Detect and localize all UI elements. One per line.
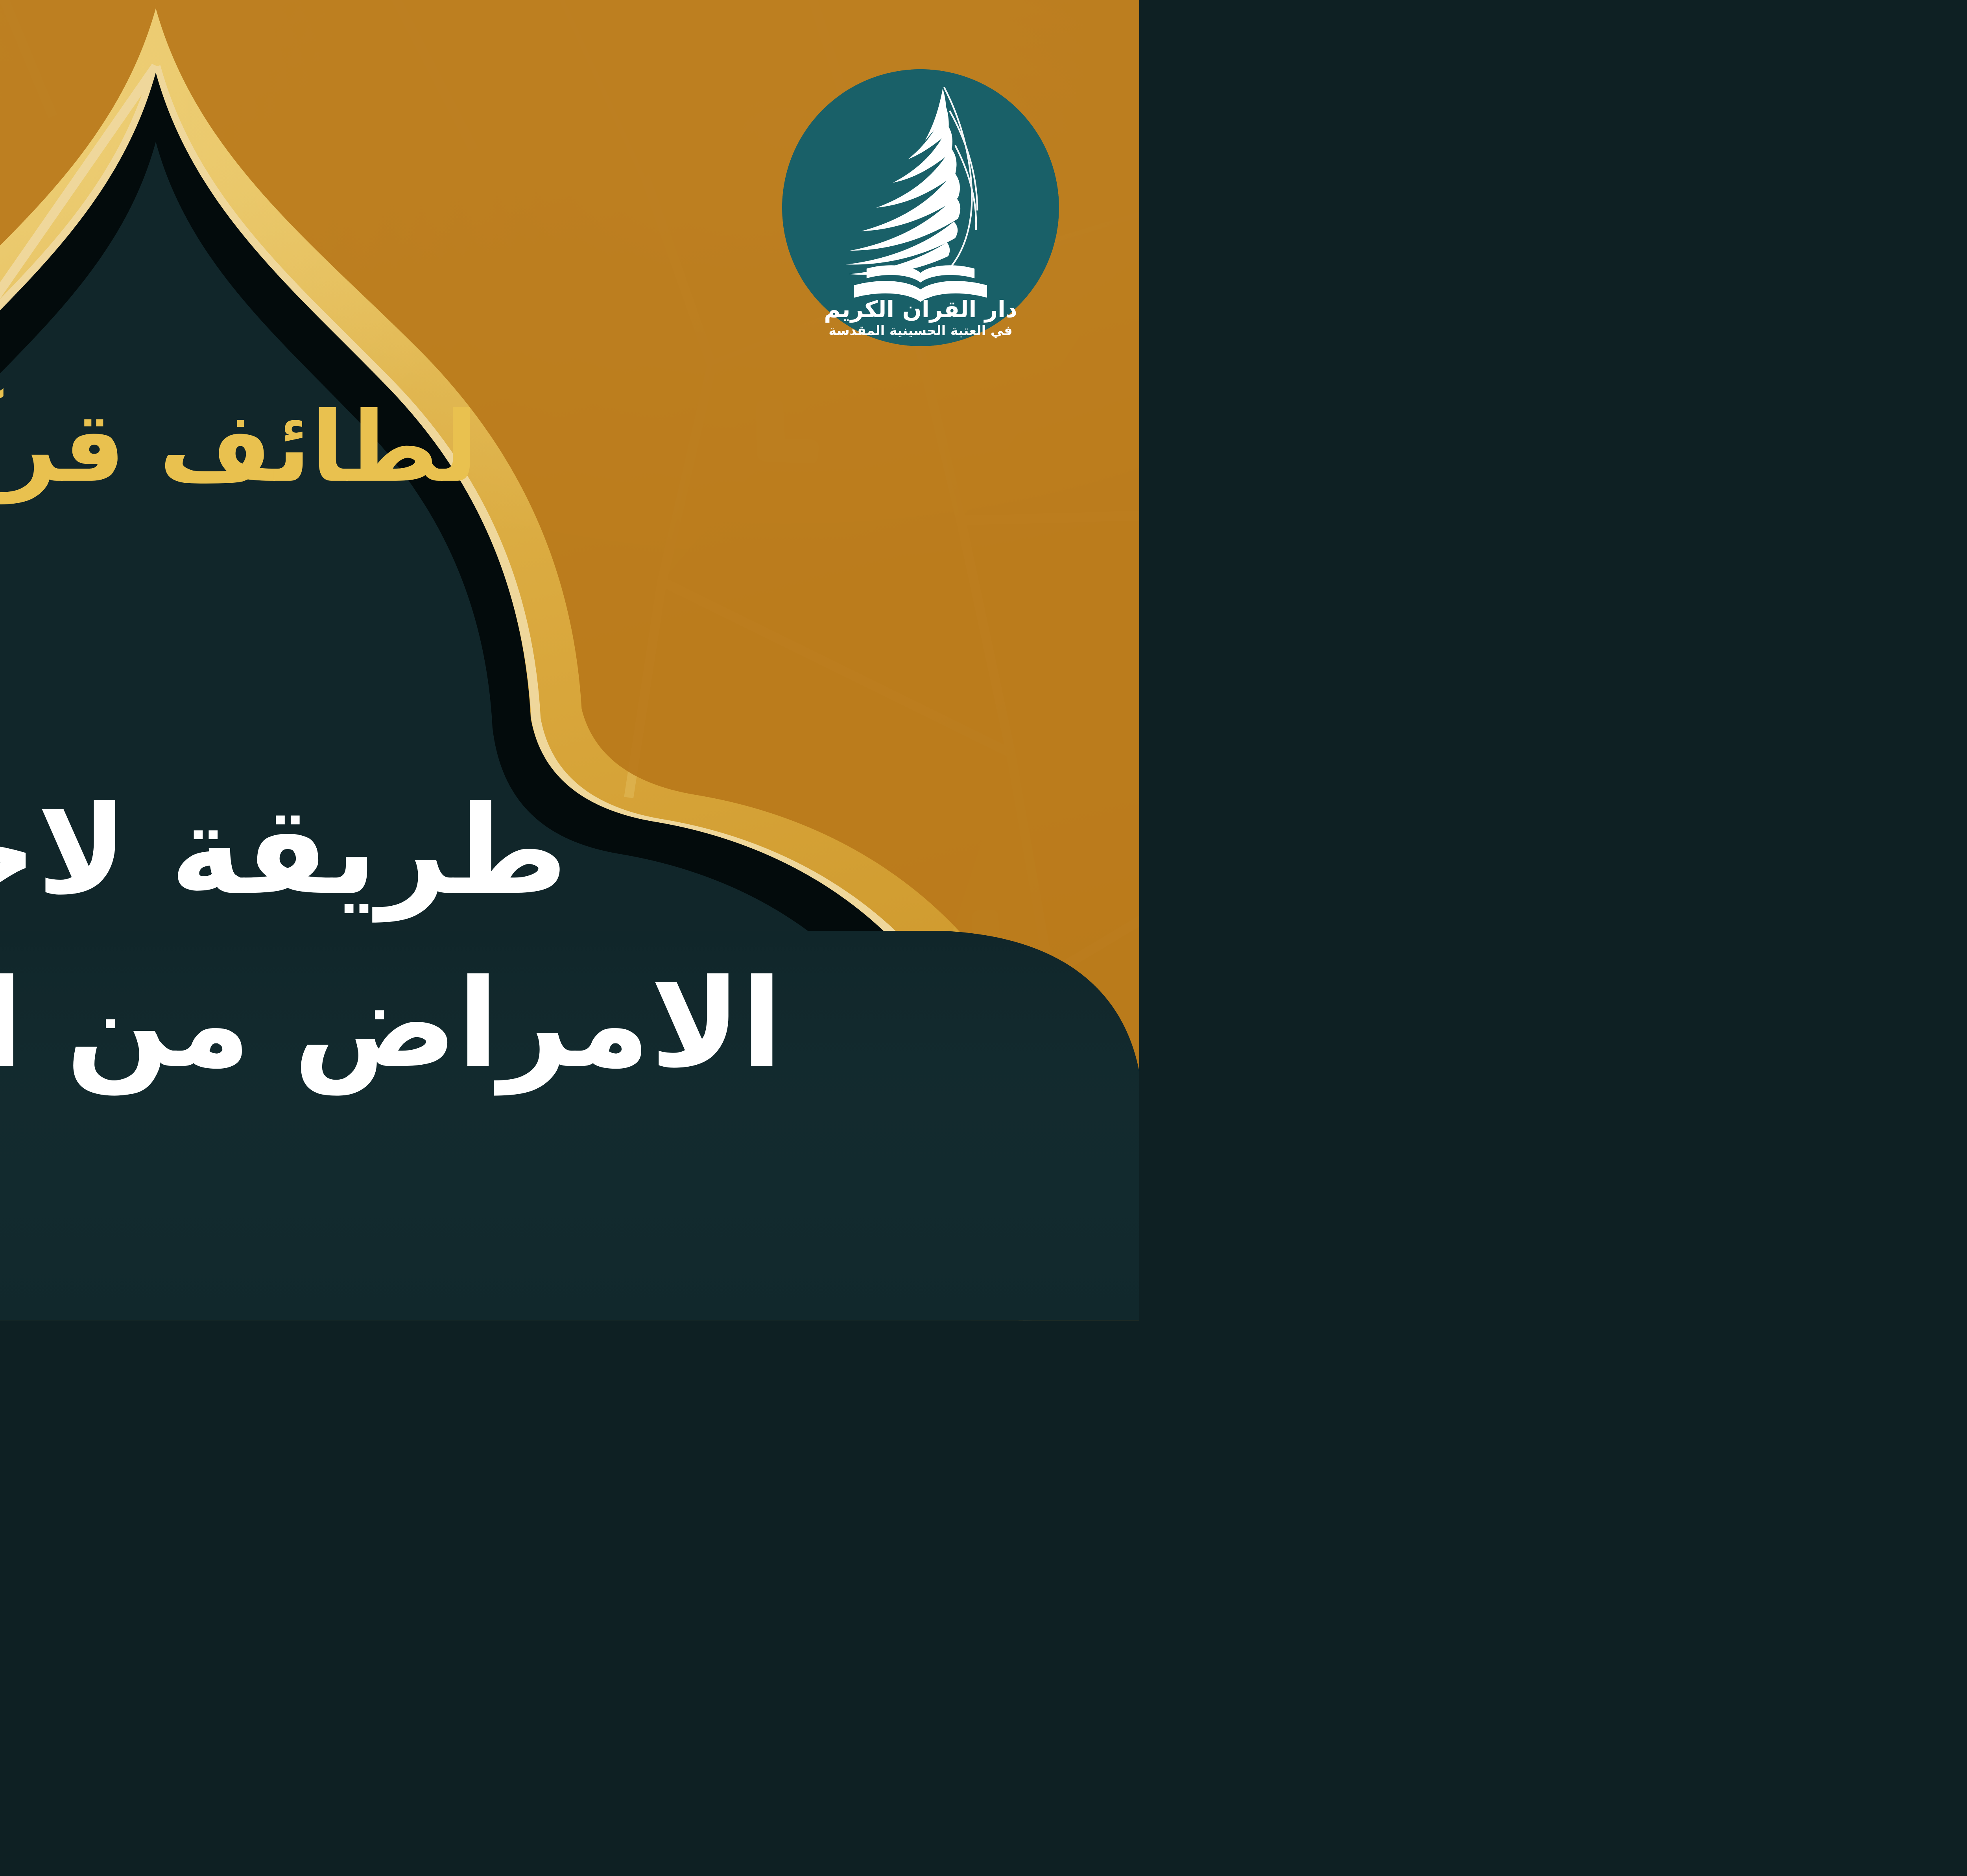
logo-right-line2: في العتبة الحسينية المقدسة — [829, 323, 1012, 338]
logo-right-line1: دار القرآن الكريم — [824, 295, 1017, 323]
kicker-title: لطائف قرآنية — [0, 399, 1139, 496]
headline-line-1: طريقة لاخراج — [0, 764, 1139, 938]
poster-canvas: الامانة العامة المقدسة — [0, 0, 1139, 1320]
headline-line-2: الامراض من القلوب؟ — [0, 937, 1139, 1110]
headline-block: طريقة لاخراج الامراض من القلوب؟ — [0, 764, 1139, 1111]
logo-dar-al-quran-al-kareem[interactable]: دار القرآن الكريم في العتبة الحسينية الم… — [782, 69, 1059, 346]
